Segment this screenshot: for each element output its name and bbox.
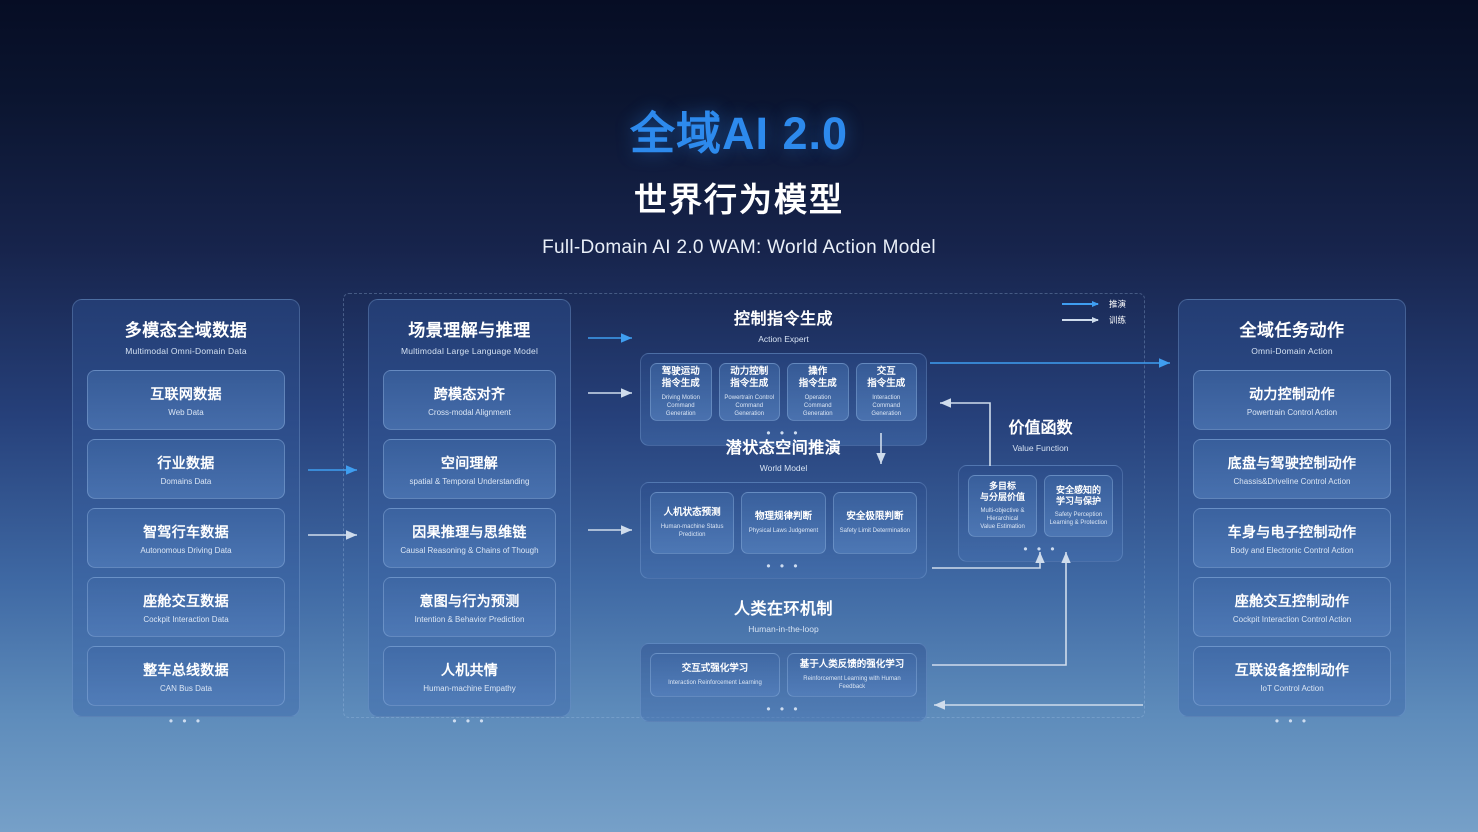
llm-more-dots: • • •: [383, 715, 556, 727]
list-item[interactable]: 车身与电子控制动作 Body and Electronic Control Ac…: [1193, 508, 1391, 568]
column-data-subtitle: Multimodal Omni-Domain Data: [87, 346, 285, 356]
world-model-subtitle: World Model: [640, 463, 927, 473]
list-item[interactable]: 互联网数据 Web Data: [87, 370, 285, 430]
action-more-dots: • • •: [1193, 715, 1391, 727]
list-item[interactable]: 行业数据 Domains Data: [87, 439, 285, 499]
llm-item-en: Human-machine Empathy: [423, 684, 515, 693]
list-item[interactable]: 整车总线数据 CAN Bus Data: [87, 646, 285, 706]
action-item-en: Chassis&Driveline Control Action: [1234, 477, 1351, 486]
action-item-cn: 座舱交互控制动作: [1235, 591, 1349, 611]
list-item[interactable]: 人机共情 Human-machine Empathy: [383, 646, 556, 706]
list-item[interactable]: 底盘与驾驶控制动作 Chassis&Driveline Control Acti…: [1193, 439, 1391, 499]
chip-en: Multi-objective & Hierarchical Value Est…: [972, 507, 1033, 531]
llm-item-en: Intention & Behavior Prediction: [415, 615, 525, 624]
chip-cn: 物理规律判断: [755, 511, 812, 524]
value-function-box: 多目标 与分层价值 Multi-objective & Hierarchical…: [958, 465, 1123, 562]
value-function-subtitle: Value Function: [958, 443, 1123, 453]
llm-item-en: spatial & Temporal Understanding: [410, 477, 530, 486]
world-model-more-dots: • • •: [650, 560, 917, 572]
human-loop-more-dots: • • •: [650, 703, 917, 715]
page-header: 全域AI 2.0 世界行为模型 Full-Domain AI 2.0 WAM: …: [0, 0, 1478, 259]
data-item-en: Cockpit Interaction Data: [143, 615, 228, 624]
world-model-title: 潜状态空间推演: [640, 434, 927, 458]
data-item-en: Web Data: [168, 408, 203, 417]
action-expert-head: 控制指令生成 Action Expert: [640, 305, 927, 344]
list-item[interactable]: 驾驶运动 指令生成 Driving Motion Command Generat…: [650, 363, 712, 421]
panel-human-in-the-loop: 人类在环机制 Human-in-the-loop 交互式强化学习 Interac…: [640, 595, 927, 722]
llm-item-cn: 意图与行为预测: [419, 591, 519, 611]
llm-item-cn: 人机共情: [441, 660, 498, 680]
human-loop-title: 人类在环机制: [640, 595, 927, 619]
chip-cn: 操作 指令生成: [799, 366, 837, 392]
action-item-cn: 底盘与驾驶控制动作: [1228, 453, 1357, 473]
chip-cn: 安全极限判断: [846, 511, 903, 524]
list-item[interactable]: 交互 指令生成 Interaction Command Generation: [856, 363, 918, 421]
chip-en: Reinforcement Learning with Human Feedba…: [791, 675, 913, 691]
chip-cn: 安全感知的 学习与保护: [1056, 485, 1101, 508]
chip-en: Interaction Reinforcement Learning: [668, 679, 762, 687]
llm-item-cn: 因果推理与思维链: [412, 522, 526, 542]
llm-item-en: Cross-modal Alignment: [428, 408, 511, 417]
list-item[interactable]: 安全感知的 学习与保护 Safety Perception Learning &…: [1044, 475, 1113, 537]
list-item[interactable]: 操作 指令生成 Operation Command Generation: [787, 363, 849, 421]
column-llm-title: 场景理解与推理: [383, 316, 556, 341]
data-more-dots: • • •: [87, 715, 285, 727]
data-item-cn: 行业数据: [157, 453, 214, 473]
list-item[interactable]: 空间理解 spatial & Temporal Understanding: [383, 439, 556, 499]
chip-en: Powertrain Control Command Generation: [723, 394, 777, 418]
action-item-en: Body and Electronic Control Action: [1230, 546, 1353, 555]
value-function-chip-row: 多目标 与分层价值 Multi-objective & Hierarchical…: [968, 475, 1113, 537]
panel-world-model: 潜状态空间推演 World Model 人机状态预测 Human-machine…: [640, 434, 927, 579]
chip-cn: 多目标 与分层价值: [980, 481, 1025, 504]
column-omni-domain-action: 全域任务动作 Omni-Domain Action 动力控制动作 Powertr…: [1178, 299, 1406, 717]
data-item-en: Autonomous Driving Data: [140, 546, 231, 555]
column-action-subtitle: Omni-Domain Action: [1193, 346, 1391, 356]
list-item[interactable]: 交互式强化学习 Interaction Reinforcement Learni…: [650, 653, 780, 697]
chip-cn: 驾驶运动 指令生成: [662, 366, 700, 392]
list-item[interactable]: 座舱交互控制动作 Cockpit Interaction Control Act…: [1193, 577, 1391, 637]
action-item-en: Powertrain Control Action: [1247, 408, 1337, 417]
llm-item-cn: 空间理解: [441, 453, 498, 473]
chip-cn: 交互式强化学习: [682, 663, 749, 676]
data-item-en: Domains Data: [161, 477, 212, 486]
action-expert-box: 驾驶运动 指令生成 Driving Motion Command Generat…: [640, 353, 927, 446]
chip-en: Human-machine Status Prediction: [654, 523, 730, 539]
chip-en: Interaction Command Generation: [860, 394, 914, 418]
list-item[interactable]: 意图与行为预测 Intention & Behavior Prediction: [383, 577, 556, 637]
action-item-en: IoT Control Action: [1260, 684, 1323, 693]
human-loop-subtitle: Human-in-the-loop: [640, 624, 927, 634]
human-loop-box: 交互式强化学习 Interaction Reinforcement Learni…: [640, 643, 927, 722]
action-item-cn: 动力控制动作: [1249, 384, 1335, 404]
world-model-head: 潜状态空间推演 World Model: [640, 434, 927, 473]
chip-en: Physical Laws Judgement: [749, 527, 818, 535]
list-item[interactable]: 跨模态对齐 Cross-modal Alignment: [383, 370, 556, 430]
action-expert-subtitle: Action Expert: [640, 334, 927, 344]
page-title-main: 全域AI 2.0: [0, 110, 1478, 157]
data-item-en: CAN Bus Data: [160, 684, 212, 693]
list-item[interactable]: 动力控制动作 Powertrain Control Action: [1193, 370, 1391, 430]
panel-value-function: 价值函数 Value Function 多目标 与分层价值 Multi-obje…: [958, 414, 1123, 562]
column-llm-subtitle: Multimodal Large Language Model: [383, 346, 556, 356]
chip-en: Safety Limit Determination: [840, 527, 910, 535]
chip-en: Safety Perception Learning & Protection: [1050, 511, 1108, 527]
page-title-en: Full-Domain AI 2.0 WAM: World Action Mod…: [0, 237, 1478, 259]
column-data-title: 多模态全域数据: [87, 316, 285, 341]
list-item[interactable]: 座舱交互数据 Cockpit Interaction Data: [87, 577, 285, 637]
list-item[interactable]: 因果推理与思维链 Causal Reasoning & Chains of Th…: [383, 508, 556, 568]
action-expert-chip-row: 驾驶运动 指令生成 Driving Motion Command Generat…: [650, 363, 917, 421]
human-loop-head: 人类在环机制 Human-in-the-loop: [640, 595, 927, 634]
chip-cn: 基于人类反馈的强化学习: [800, 659, 905, 672]
value-function-head: 价值函数 Value Function: [958, 414, 1123, 453]
column-multimodal-data: 多模态全域数据 Multimodal Omni-Domain Data 互联网数…: [72, 299, 300, 717]
llm-item-en: Causal Reasoning & Chains of Though: [400, 546, 538, 555]
list-item[interactable]: 人机状态预测 Human-machine Status Prediction: [650, 492, 734, 554]
chip-en: Driving Motion Command Generation: [654, 394, 708, 418]
chip-cn: 动力控制 指令生成: [730, 366, 768, 392]
action-expert-title: 控制指令生成: [640, 305, 927, 329]
panel-action-expert: 控制指令生成 Action Expert 驾驶运动 指令生成 Driving M…: [640, 305, 927, 446]
world-model-chip-row: 人机状态预测 Human-machine Status Prediction 物…: [650, 492, 917, 554]
action-item-cn: 互联设备控制动作: [1235, 660, 1349, 680]
list-item[interactable]: 多目标 与分层价值 Multi-objective & Hierarchical…: [968, 475, 1037, 537]
value-function-title: 价值函数: [958, 414, 1123, 438]
chip-cn: 人机状态预测: [664, 507, 721, 520]
data-item-cn: 整车总线数据: [143, 660, 229, 680]
value-function-more-dots: • • •: [968, 543, 1113, 555]
data-item-cn: 智驾行车数据: [143, 522, 229, 542]
list-item[interactable]: 物理规律判断 Physical Laws Judgement: [741, 492, 825, 554]
action-item-en: Cockpit Interaction Control Action: [1233, 615, 1351, 624]
chip-cn: 交互 指令生成: [867, 366, 905, 392]
list-item[interactable]: 安全极限判断 Safety Limit Determination: [833, 492, 917, 554]
world-model-box: 人机状态预测 Human-machine Status Prediction 物…: [640, 482, 927, 579]
list-item[interactable]: 智驾行车数据 Autonomous Driving Data: [87, 508, 285, 568]
human-loop-chip-row: 交互式强化学习 Interaction Reinforcement Learni…: [650, 653, 917, 697]
data-item-cn: 互联网数据: [150, 384, 222, 404]
chip-en: Operation Command Generation: [791, 394, 845, 418]
list-item[interactable]: 互联设备控制动作 IoT Control Action: [1193, 646, 1391, 706]
page-title-sub: 世界行为模型: [0, 173, 1478, 221]
column-action-title: 全域任务动作: [1193, 316, 1391, 341]
action-item-cn: 车身与电子控制动作: [1228, 522, 1357, 542]
llm-item-cn: 跨模态对齐: [434, 384, 506, 404]
list-item[interactable]: 动力控制 指令生成 Powertrain Control Command Gen…: [719, 363, 781, 421]
data-item-cn: 座舱交互数据: [143, 591, 229, 611]
column-scene-understanding: 场景理解与推理 Multimodal Large Language Model …: [368, 299, 571, 717]
list-item[interactable]: 基于人类反馈的强化学习 Reinforcement Learning with …: [787, 653, 917, 697]
